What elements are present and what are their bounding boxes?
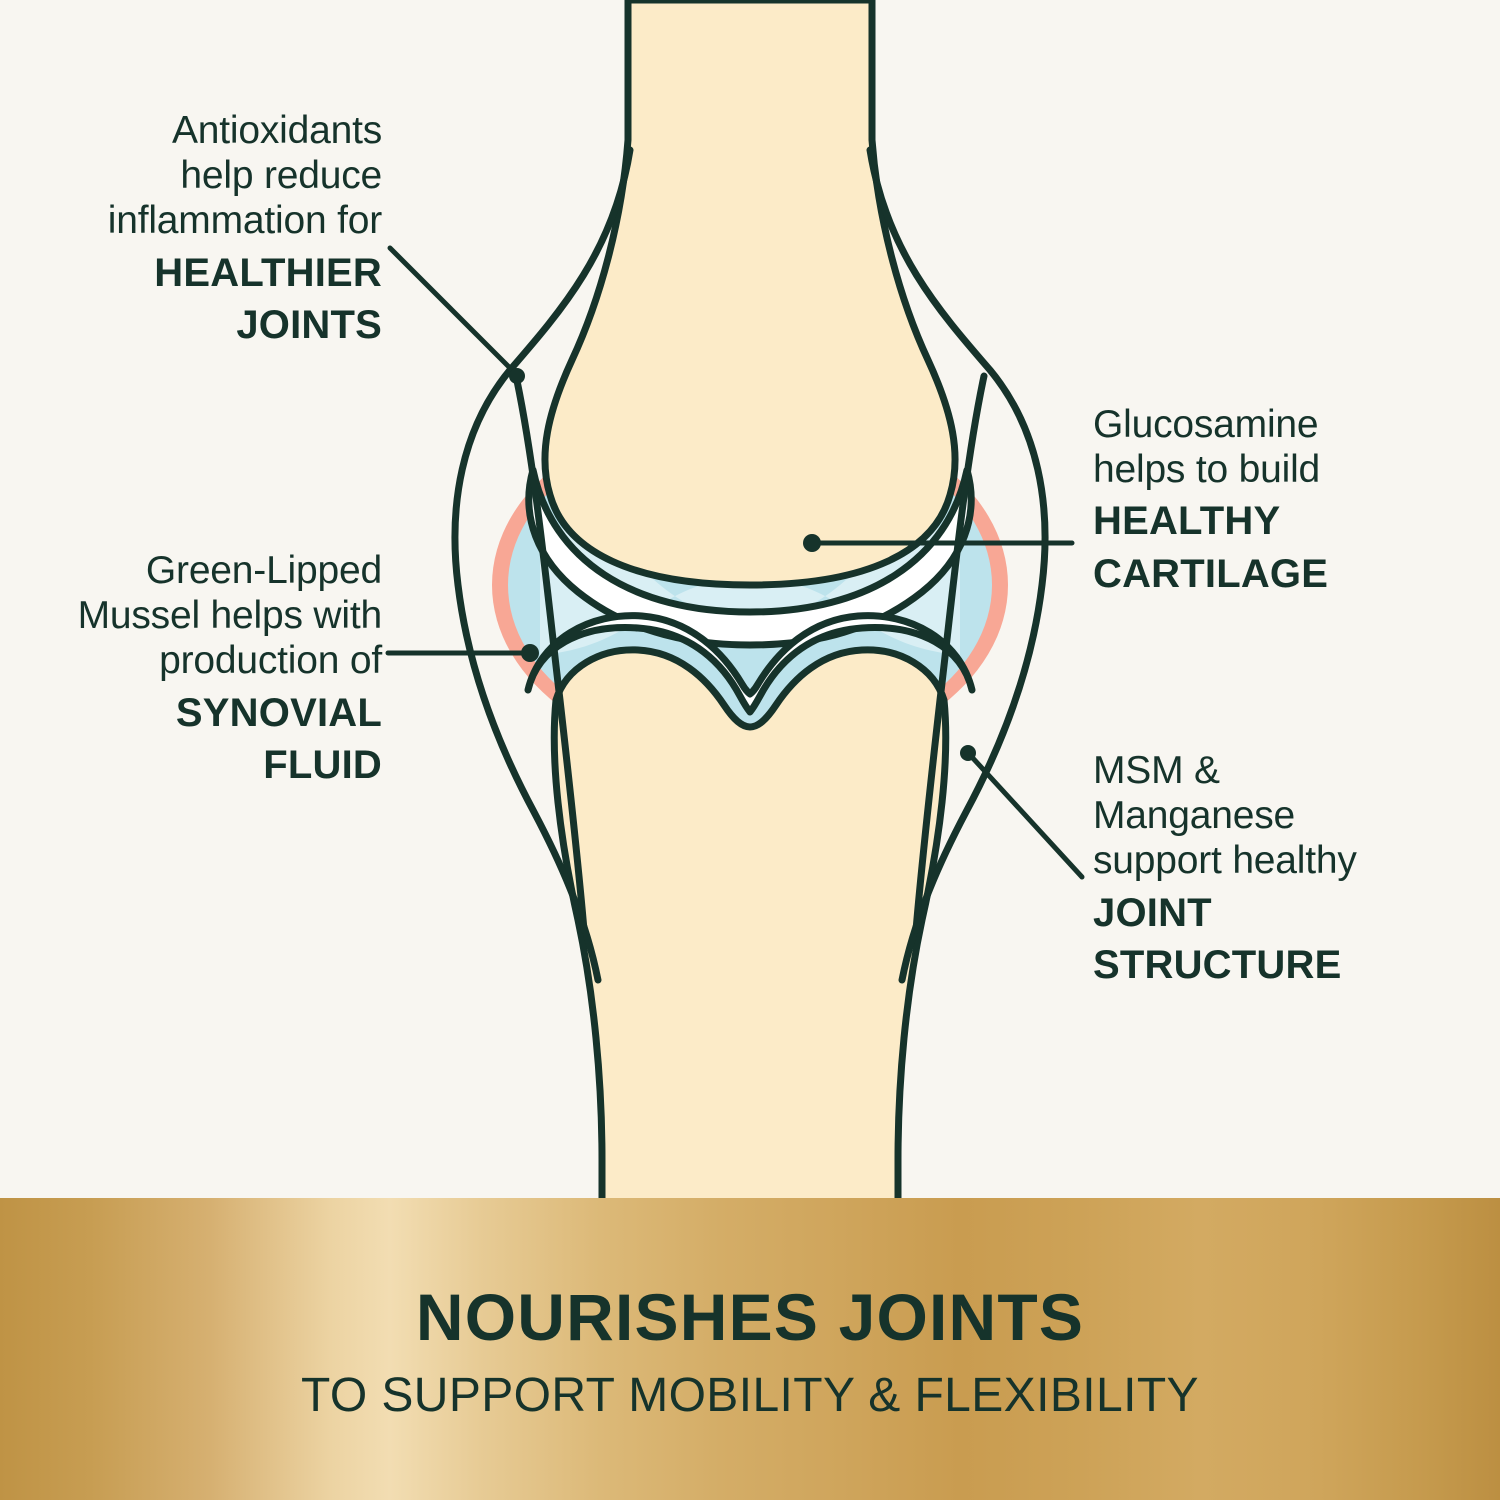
banner-headline: NOURISHES JOINTS [416,1284,1084,1350]
callout-msm-lead-1: MSM & [1093,748,1485,793]
callout-antioxidants-emph-1: HEALTHIER [20,250,382,296]
callout-antioxidants-lead-2: help reduce [20,153,382,198]
banner-subline: TO SUPPORT MOBILITY & FLEXIBILITY [301,1372,1199,1420]
callout-antioxidants-emph-2: JOINTS [20,302,382,348]
callout-mussel-lead-3: production of [20,638,382,683]
callout-mussel-lead-1: Green-Lipped [20,548,382,593]
callout-glucosamine: Glucosamine helps to build HEALTHY CARTI… [1093,402,1485,597]
callout-antioxidants: Antioxidants help reduce inflammation fo… [20,108,382,348]
callout-green-lipped-mussel: Green-Lipped Mussel helps with productio… [20,548,382,788]
gold-banner: NOURISHES JOINTS TO SUPPORT MOBILITY & F… [0,1198,1500,1500]
tibia-bone-fill [554,650,945,1210]
callout-glucosamine-lead-2: helps to build [1093,447,1485,492]
callout-glucosamine-lead-1: Glucosamine [1093,402,1485,447]
callout-antioxidants-lead-3: inflammation for [20,198,382,243]
leader-line-joint-structure [960,745,1082,877]
leader-line-healthier-joints [390,248,525,384]
callout-msm-manganese: MSM & Manganese support healthy JOINT ST… [1093,748,1485,988]
femur-bone-fill [545,0,955,585]
callout-antioxidants-lead-1: Antioxidants [20,108,382,153]
callout-mussel-lead-2: Mussel helps with [20,593,382,638]
callout-glucosamine-emph-2: CARTILAGE [1093,551,1485,597]
callout-mussel-emph-2: FLUID [20,742,382,788]
infographic-page: Antioxidants help reduce inflammation fo… [0,0,1500,1500]
callout-glucosamine-emph-1: HEALTHY [1093,498,1485,544]
callout-msm-emph-2: STRUCTURE [1093,942,1485,988]
callout-mussel-emph-1: SYNOVIAL [20,690,382,736]
callout-msm-lead-2: Manganese [1093,793,1485,838]
callout-msm-lead-3: support healthy [1093,838,1485,883]
callout-msm-emph-1: JOINT [1093,890,1485,936]
